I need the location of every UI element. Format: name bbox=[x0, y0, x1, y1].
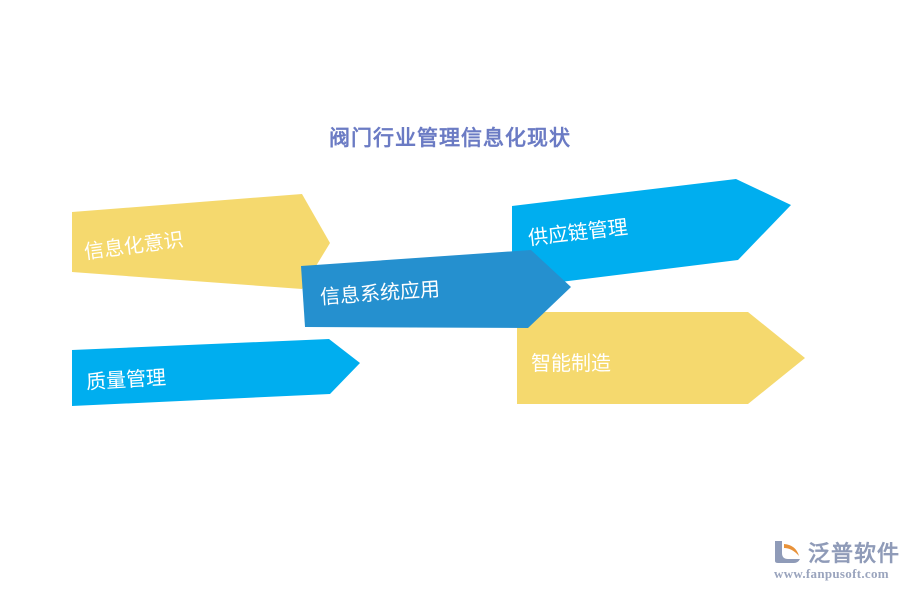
fanpu-logo-icon bbox=[772, 537, 804, 565]
shape-info-system[interactable] bbox=[301, 250, 571, 328]
shape-quality[interactable] bbox=[72, 339, 360, 406]
watermark-brand: 泛普软件 bbox=[808, 536, 900, 568]
shape-info-awareness[interactable] bbox=[72, 194, 330, 289]
watermark-url: www.fanpusoft.com bbox=[774, 566, 889, 582]
diagram-shapes bbox=[0, 0, 900, 600]
page-title: 阀门行业管理信息化现状 bbox=[0, 122, 900, 152]
watermark: 泛普软件 www.fanpusoft.com bbox=[772, 536, 894, 590]
shape-smart-mfg[interactable] bbox=[517, 312, 805, 404]
